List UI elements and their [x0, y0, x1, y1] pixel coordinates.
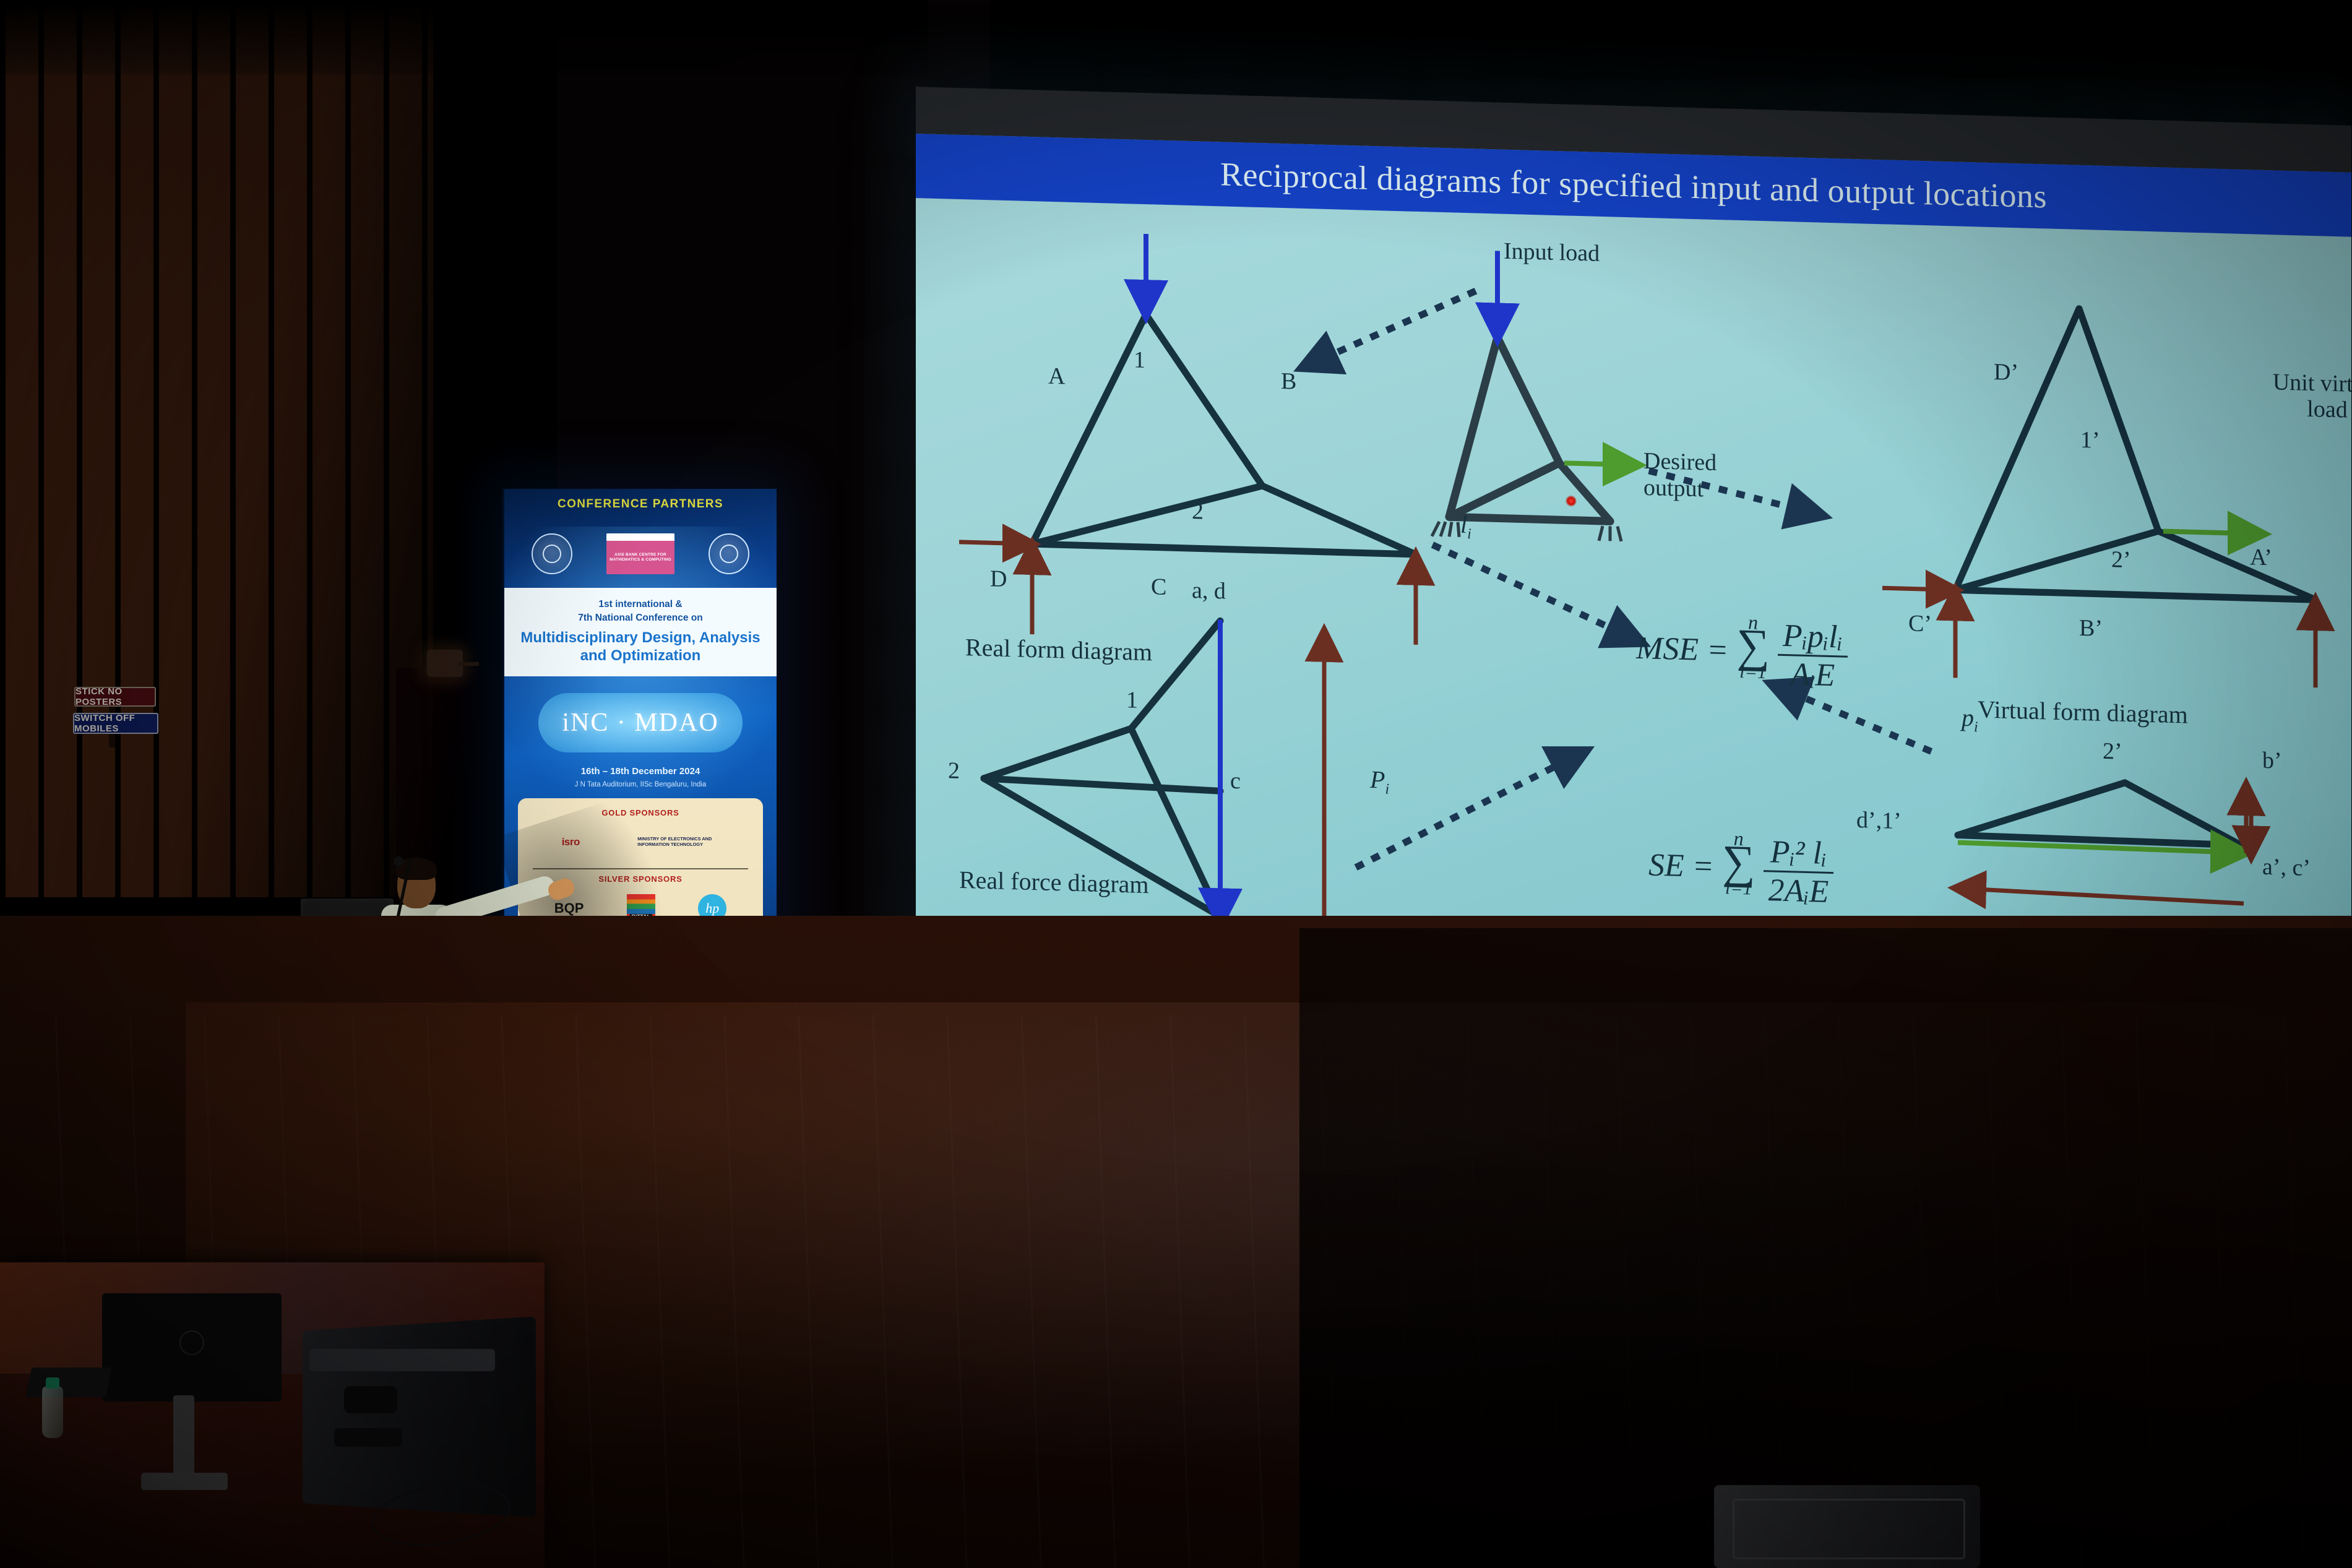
switch-off-mobiles-label: SWITCH OFF MOBILES	[74, 713, 157, 734]
label-virtual-force-ac: a’, c’	[2262, 853, 2311, 882]
label-virtual-form-1: 1’	[2080, 426, 2100, 454]
axis-bank-line2: MATHEMATICS & COMPUTING	[610, 558, 671, 562]
symbol-virtual-force: pi	[1962, 703, 1978, 736]
pointer-arrow-virtualforce-to-mse	[1781, 688, 1928, 750]
conference-partners-heading: CONFERENCE PARTNERS	[504, 498, 777, 511]
equation-se-sigma: n ∑ i=1	[1722, 836, 1755, 890]
auditorium-scene: STICK NO POSTERS SWITCH OFF MOBILES CONF…	[0, 0, 2352, 1568]
unit-virtual-load-arrow	[2163, 532, 2257, 534]
equation-mse: MSE = n ∑ i=1 Pᵢpᵢlᵢ AᵢE	[1636, 613, 1848, 694]
label-real-form-C: C	[1151, 573, 1166, 601]
label-virtual-form-2: 2’	[2111, 546, 2131, 574]
microphone-icon	[394, 856, 403, 866]
pointer-arrow-length-to-mse	[1436, 546, 1632, 639]
stage-floor-shadow	[1299, 928, 2352, 1568]
banner-acronym: iNC · MDAO	[538, 693, 743, 752]
equation-se-lhs: SE	[1648, 847, 1684, 884]
speaker-grill	[309, 1349, 495, 1371]
symbol-member-length: li	[1460, 510, 1471, 543]
laser-pointer-dot	[1566, 495, 1577, 506]
wall-speaker-bracket	[458, 662, 479, 666]
real-form-horizontal-reaction	[959, 542, 1028, 544]
symbol-real-force: Pi	[1370, 765, 1389, 798]
speaker-port	[334, 1428, 402, 1447]
iisc-logo	[532, 533, 572, 574]
label-virtual-form-D: D’	[1994, 358, 2018, 386]
center-truss	[1449, 336, 1610, 521]
annotation-unit-virtual-load: Unit virtual load	[2262, 369, 2351, 424]
monitor-stand-neck	[173, 1395, 194, 1482]
equation-se: SE = n ∑ i=1 Pᵢ² lᵢ 2AᵢE	[1648, 830, 1833, 910]
banner-conference-line2: 7th National Conference on	[510, 611, 770, 625]
stick-no-posters-label: STICK NO POSTERS	[75, 686, 155, 707]
desired-output-arrow	[1564, 463, 1632, 465]
stage-monitor-speaker	[303, 1317, 536, 1518]
equation-se-fraction: Pᵢ² lᵢ 2AᵢE	[1764, 834, 1834, 910]
dell-logo	[179, 1330, 204, 1355]
annotation-desired-output: Desired output	[1643, 448, 1761, 504]
label-real-force-2: 2	[948, 757, 960, 785]
axis-bank-centre-logo: AXIS BANK CENTRE FOR MATHEMATICS & COMPU…	[606, 533, 674, 574]
annotation-input-load: Input load	[1504, 238, 1600, 267]
label-real-form-B: B	[1281, 368, 1296, 395]
reciprocal-diagrams-svg	[916, 198, 2351, 1041]
ceiling-shadow	[0, 0, 928, 74]
equation-se-eq: =	[1692, 848, 1714, 884]
axis-bank-line1: AXIS BANK CENTRE FOR	[614, 553, 666, 558]
caption-real-form-diagram: Real form diagram	[965, 632, 1152, 666]
equation-mse-sigma: n ∑ i=1	[1736, 619, 1770, 673]
banner-conference-line1: 1st international &	[510, 598, 770, 611]
label-virtual-force-b: b’	[2262, 747, 2282, 775]
partner-logo-row: AXIS BANK CENTRE FOR MATHEMATICS & COMPU…	[504, 527, 777, 580]
meity-logo: MINISTRY OF ELECTRONICS AND INFORMATION …	[637, 837, 719, 847]
label-real-force-ad: a, d	[1192, 577, 1226, 605]
label-real-form-D: D	[990, 565, 1007, 593]
speaker-handle	[344, 1386, 397, 1413]
banner-venue: J N Tata Auditorium, IISc Bengaluru, Ind…	[504, 781, 777, 788]
label-virtual-force-d1: d’,1’	[1856, 806, 1902, 835]
label-real-form-2: 2	[1192, 498, 1204, 525]
banner-dates: 16th – 18th December 2024	[504, 766, 777, 777]
label-virtual-form-B: B’	[2079, 614, 2103, 642]
label-virtual-form-C: C’	[1908, 610, 1932, 637]
label-real-form-1: 1	[1134, 347, 1145, 374]
label-virtual-form-A: A’	[2250, 543, 2272, 571]
label-real-force-c: c	[1230, 767, 1241, 795]
virtual-force-base-arrow	[1960, 889, 2244, 903]
pointer-arrow-to-real-form	[1312, 288, 1473, 368]
aeronautical-society-of-india-logo	[709, 533, 749, 574]
keyboard	[25, 1368, 112, 1397]
slide-diagram-canvas: A B C D 1 2 Real form diagram a, d b c 1…	[916, 198, 2351, 1041]
label-real-force-1: 1	[1126, 686, 1138, 714]
wall-shadow-gradient	[0, 0, 557, 928]
label-real-form-A: A	[1048, 363, 1065, 390]
water-bottle-cap	[46, 1377, 59, 1389]
equation-mse-lhs: MSE	[1636, 631, 1699, 668]
equation-mse-fraction: Pᵢpᵢlᵢ AᵢE	[1778, 618, 1848, 694]
caption-virtual-form-diagram: Virtual form diagram	[1978, 694, 2188, 729]
equation-mse-eq: =	[1707, 632, 1728, 668]
presentation-slide: Reciprocal diagrams for specified input …	[916, 134, 2351, 1041]
banner-title-block: 1st international & 7th National Confere…	[504, 588, 777, 676]
banner-conference-title: Multidisciplinary Design, Analysis and O…	[510, 629, 770, 665]
projection-screen: Reciprocal diagrams for specified input …	[916, 87, 2351, 1041]
caption-real-force-diagram: Real force diagram	[959, 865, 1149, 899]
stick-no-posters-sign: STICK NO POSTERS	[74, 687, 156, 707]
monitor-stand-base	[141, 1473, 228, 1490]
water-bottle	[42, 1386, 63, 1438]
floor-equipment-case-panel	[1733, 1499, 1965, 1559]
virtual-form-horizontal-reaction	[1882, 588, 1952, 590]
virtual-force-diagram	[1958, 778, 2241, 845]
pointer-arrow-realforce-to-mse	[1359, 749, 1577, 872]
gold-sponsors-heading: GOLD SPONSORS	[518, 808, 763, 817]
switch-off-mobiles-sign: SWITCH OFF MOBILES	[73, 713, 158, 734]
real-form-diagram	[1032, 311, 1416, 554]
label-virtual-force-2: 2’	[2103, 738, 2122, 765]
banner-acronym-wrap: iNC · MDAO	[504, 693, 777, 752]
slide-title: Reciprocal diagrams for specified input …	[1220, 155, 2047, 215]
